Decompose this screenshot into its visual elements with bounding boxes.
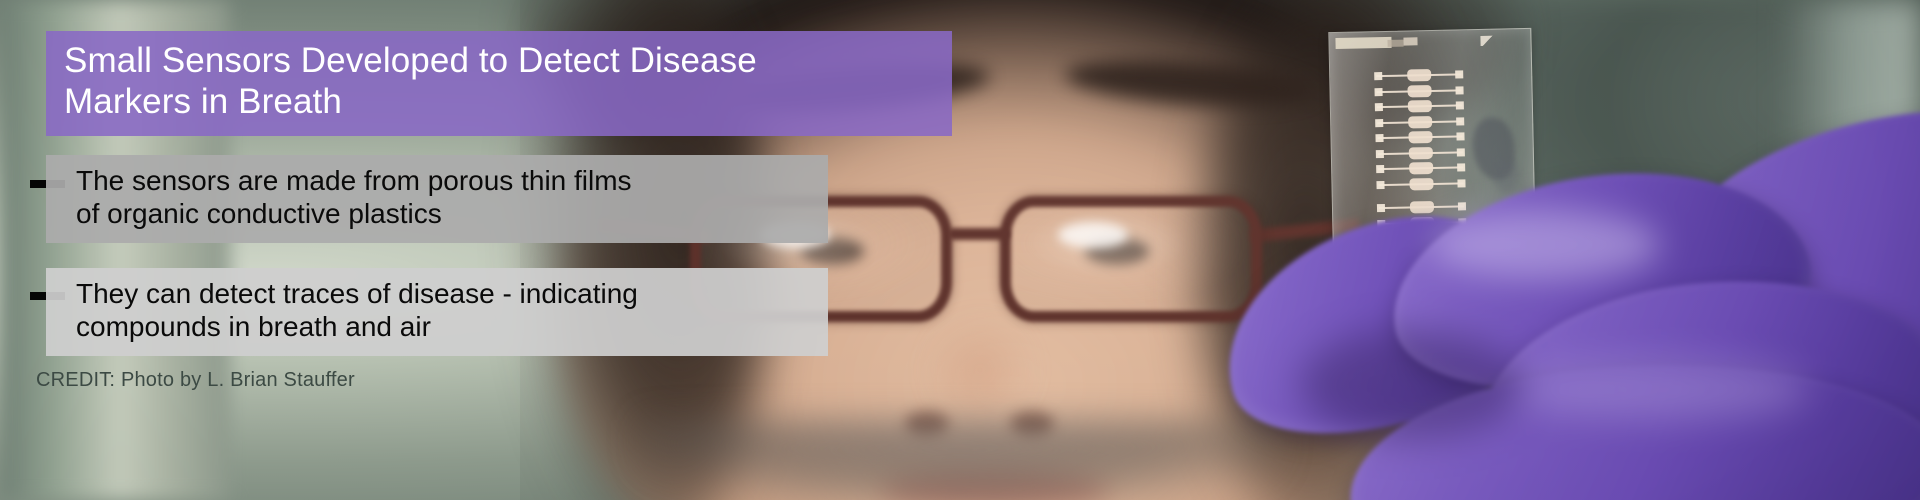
gloved-hand-icon	[1180, 150, 1920, 500]
trace-pad-left	[1374, 72, 1382, 80]
page-title: Small Sensors Developed to Detect Diseas…	[64, 40, 934, 123]
trace-channel	[1409, 115, 1433, 127]
photo-credit: CREDIT: Photo by L. Brian Stauffer	[36, 369, 355, 392]
glasses-glint-right	[1058, 222, 1128, 248]
bullet-item-1: The sensors are made from porous thin fi…	[46, 155, 828, 243]
bullet-text-1: The sensors are made from porous thin fi…	[76, 165, 812, 231]
headline-banner: Small Sensors Developed to Detect Diseas…	[46, 31, 952, 136]
glove-highlight	[1430, 210, 1660, 280]
glove-body	[1180, 150, 1920, 500]
trace-pad-right	[1455, 70, 1463, 78]
trace-pad-left	[1374, 88, 1382, 96]
chip-corner-marking	[1480, 36, 1494, 46]
trace-pad-left	[1375, 103, 1383, 111]
trace-pad-left	[1375, 134, 1383, 142]
trace-pad-right	[1456, 132, 1464, 140]
trace-pad-right	[1456, 101, 1464, 109]
trace-channel	[1408, 100, 1432, 112]
trace-channel	[1408, 84, 1432, 96]
trace-pad-right	[1455, 86, 1463, 94]
trace-channel	[1409, 131, 1433, 143]
glove-highlight-secondary	[1510, 360, 1810, 420]
trace-pad-right	[1456, 117, 1464, 125]
news-image-card: Small Sensors Developed to Detect Diseas…	[0, 0, 1920, 500]
bullet-item-2: They can detect traces of disease - indi…	[46, 268, 828, 356]
bullet-text-2: They can detect traces of disease - indi…	[76, 278, 812, 344]
chip-label-patch-secondary	[1387, 40, 1403, 47]
glasses-bridge	[948, 228, 1010, 240]
chip-top-marking	[1403, 37, 1417, 45]
trace-pad-left	[1375, 119, 1383, 127]
trace-channel	[1408, 69, 1432, 81]
chip-label-patch	[1335, 37, 1391, 49]
glove-shadow	[1300, 330, 1520, 440]
